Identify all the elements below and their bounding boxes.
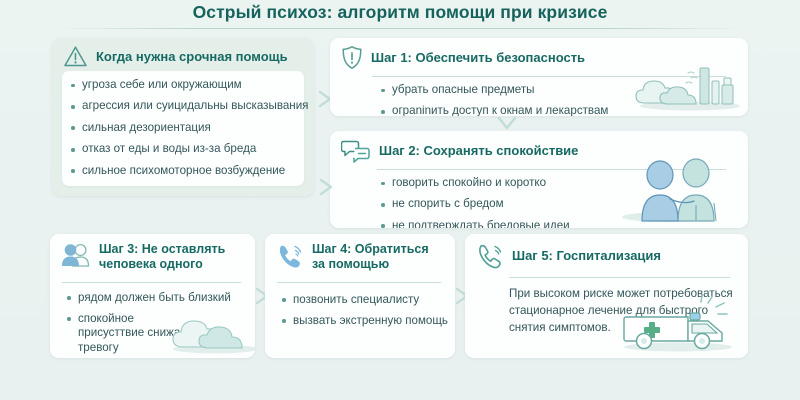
people-pair-icon <box>61 243 91 268</box>
list-item: позвонить специалисту <box>293 293 445 307</box>
phone-ring-icon <box>276 243 304 269</box>
panel-step1-heading: Шаг 1: Обеспечить безопасность <box>371 50 585 65</box>
speech-bubbles-icon <box>341 138 371 163</box>
warning-triangle-icon <box>63 45 88 68</box>
list-item: ограninить доступ к окнам и лекарствам <box>392 104 738 116</box>
panel-step4-heading-line1: Шаг 4: Обратиться <box>312 242 429 256</box>
panel-step4-heading: Шаг 4: Обратиться за помощью <box>312 242 429 272</box>
list-item: сильная дезориентация <box>82 121 294 135</box>
panel-step4-heading-line2: за помощью <box>312 257 389 271</box>
panel-warning-heading: Когда нужна срочная помощь <box>96 49 288 64</box>
list-item: вызвать экстренную помощь <box>293 314 445 328</box>
list-item: говорить спокойно и коротко <box>392 176 738 190</box>
panel-step5: Шаг 5: Госпитализация При высоком риске … <box>465 234 748 358</box>
list-item: отказ от еды и воды из-за бреда <box>82 142 294 156</box>
list-item: не спорить с бредом <box>392 197 738 211</box>
panel-step1: Шаг 1: Обеспечить безопасность убрать оп… <box>330 38 748 116</box>
page-title: Острый психоз: алгоритм помощи при кризи… <box>0 2 800 23</box>
panel-step3-heading-line2: чеповека одного <box>99 257 203 271</box>
panel-step3: Шаг 3: Не оставлять чеповека одного рядо… <box>50 234 255 358</box>
list-item: рядом должен быть близкий <box>78 291 203 305</box>
list-item: спокойное присусттвие снижает тревогу <box>78 312 203 355</box>
panel-step4-header: Шаг 4: Обратиться за помощью <box>265 234 455 276</box>
panel-step3-heading-line1: Шаг 3: Не оставлять <box>99 242 225 256</box>
panel-step1-header: Шаг 1: Обеспечить безопасность <box>330 38 748 74</box>
title-divider <box>55 28 745 29</box>
list-item: убрать опасные предметы <box>392 83 738 97</box>
list-item: не подтверждать бредовые идеи <box>392 219 738 228</box>
list-item: сильное психомоторное возбуждение <box>82 164 294 178</box>
arrow-left-down-icon <box>316 176 338 203</box>
phone-ring-icon <box>476 243 504 269</box>
panel-warning-bullet-list: угроза себе или окружающим агрессия или … <box>62 71 304 184</box>
panel-warning-list-box: угроза себе или окружающим агрессия или … <box>62 71 304 186</box>
shield-exclamation-icon <box>341 45 363 70</box>
panel-step4-bullet-list: позвонить специалисту вызвать экстренную… <box>265 283 455 335</box>
panel-step2-heading: Шаг 2: Сохранять спокойствие <box>379 143 578 158</box>
panel-step2: Шаг 2: Сохранять спокойствие говорить сп… <box>330 131 748 228</box>
panel-step5-header: Шаг 5: Госпитализация <box>465 234 748 273</box>
panel-warning-header: Когда нужна срочная помощь <box>52 38 314 72</box>
list-item: угроза себе или окружающим <box>82 78 294 92</box>
panel-step2-header: Шаг 2: Сохранять спокойствие <box>330 131 748 167</box>
panel-step3-header: Шаг 3: Не оставлять чеповека одного <box>50 234 255 276</box>
panel-step3-heading: Шаг 3: Не оставлять чеповека одного <box>99 242 225 272</box>
panel-step3-bullet-list: рядом должен быть близкий спокойное прис… <box>50 283 255 359</box>
panel-step5-heading: Шаг 5: Госпитализация <box>512 248 661 263</box>
panel-warning: Когда нужна срочная помощь угроза себе и… <box>52 38 314 196</box>
panel-step4: Шаг 4: Обратиться за помощью позвонить с… <box>265 234 455 358</box>
panel-step1-bullet-list: убрать опасные предметы ограninить досту… <box>330 77 748 116</box>
list-item: агрессия или суицидальны высказывания <box>82 99 294 113</box>
panel-step5-body: При высоком риске может потребоваться ст… <box>465 278 748 342</box>
panel-step2-bullet-list: говорить спокойно и коротко не спорить с… <box>330 170 748 228</box>
